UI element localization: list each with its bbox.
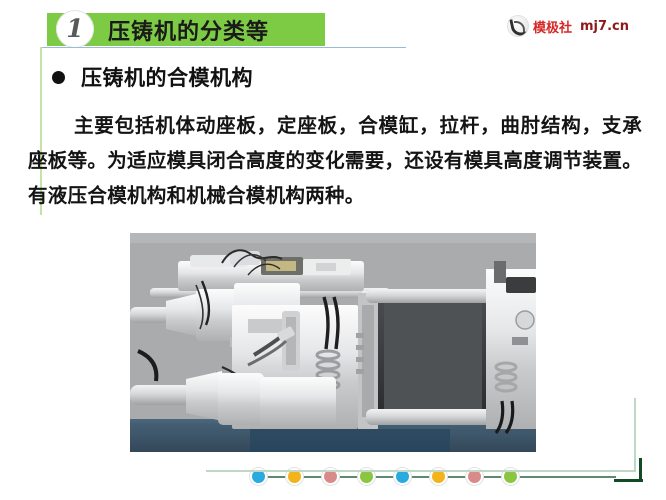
filled-circle-bullet-icon <box>52 71 65 84</box>
corner-bracket-vertical-light <box>634 398 636 472</box>
section-number-label: 1 <box>66 16 83 41</box>
section-number-badge: 1 <box>56 10 94 48</box>
brand-logo-icon <box>508 16 528 36</box>
bullet-heading-row: 压铸机的合模机构 <box>52 62 253 92</box>
machine-photo <box>130 233 536 452</box>
corner-bracket-decoration <box>626 398 662 482</box>
header-divider <box>40 47 406 48</box>
page-title: 压铸机的分类等 <box>108 13 269 46</box>
corner-bracket-horizontal-light <box>206 470 636 472</box>
slide-canvas: 1 压铸机的分类等 模极社 mj7.cn 压铸机的合模机构 主要包括机体动座板，… <box>0 0 666 500</box>
bullet-heading-label: 压铸机的合模机构 <box>81 62 253 92</box>
body-paragraph: 主要包括机体动座板，定座板，合模缸，拉杆，曲肘结构，支承座板等。为适应模具闭合高… <box>28 108 642 213</box>
watermark-url-label: mj7.cn <box>580 19 629 34</box>
footer-progress-track <box>252 470 622 484</box>
corner-bracket-horizontal-dark <box>614 479 643 482</box>
watermark-brand-label: 模极社 <box>533 17 572 36</box>
watermark: 模极社 mj7.cn <box>508 16 629 36</box>
machine-photo-illustration <box>130 233 536 452</box>
